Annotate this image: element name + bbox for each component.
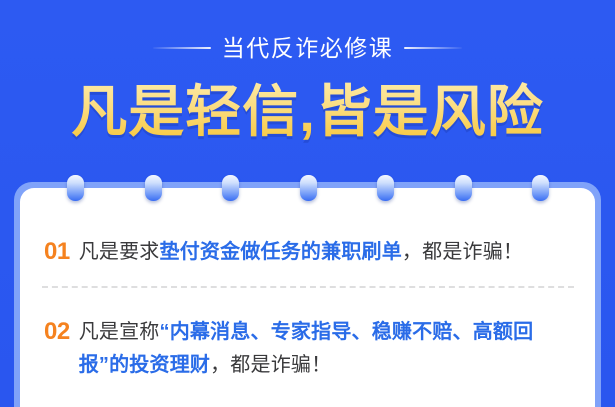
eyebrow-group: 当代反诈必修课	[0, 34, 615, 62]
anti-fraud-poster: 当代反诈必修课 凡是轻信,皆是风险 01 凡是要求垫付资金做任务的兼职刷单，都是…	[0, 0, 615, 407]
eyebrow-text: 当代反诈必修课	[222, 34, 394, 62]
eyebrow-rule-right-icon	[404, 47, 462, 49]
item-segment-plain: 凡是要求	[79, 241, 160, 263]
tips-list: 01 凡是要求垫付资金做任务的兼职刷单，都是诈骗！ 02 凡是宣称“内幕消息、专…	[20, 188, 595, 407]
item-segment-tail: ，都是诈骗！	[402, 241, 523, 263]
item-number: 01	[44, 236, 70, 267]
poster-header: 当代反诈必修课 凡是轻信,皆是风险	[0, 0, 615, 180]
item-segment-highlight: 垫付资金做任务的兼职刷单	[160, 241, 402, 263]
list-item: 02 凡是宣称“内幕消息、专家指导、稳赚不赔、高额回报”的投资理财，都是诈骗！	[44, 316, 574, 382]
list-divider	[42, 286, 574, 288]
item-text: 凡是宣称“内幕消息、专家指导、稳赚不赔、高额回报”的投资理财，都是诈骗！	[79, 316, 574, 382]
item-segment-tail: ，都是诈骗！	[210, 354, 331, 376]
item-segment-plain: 凡是宣称	[79, 321, 160, 343]
eyebrow-rule-left-icon	[153, 47, 211, 49]
poster-headline: 凡是轻信,皆是风险	[0, 80, 615, 144]
item-number: 02	[44, 316, 70, 347]
item-text: 凡是要求垫付资金做任务的兼职刷单，都是诈骗！	[79, 236, 574, 269]
list-item: 01 凡是要求垫付资金做任务的兼职刷单，都是诈骗！	[44, 236, 574, 269]
